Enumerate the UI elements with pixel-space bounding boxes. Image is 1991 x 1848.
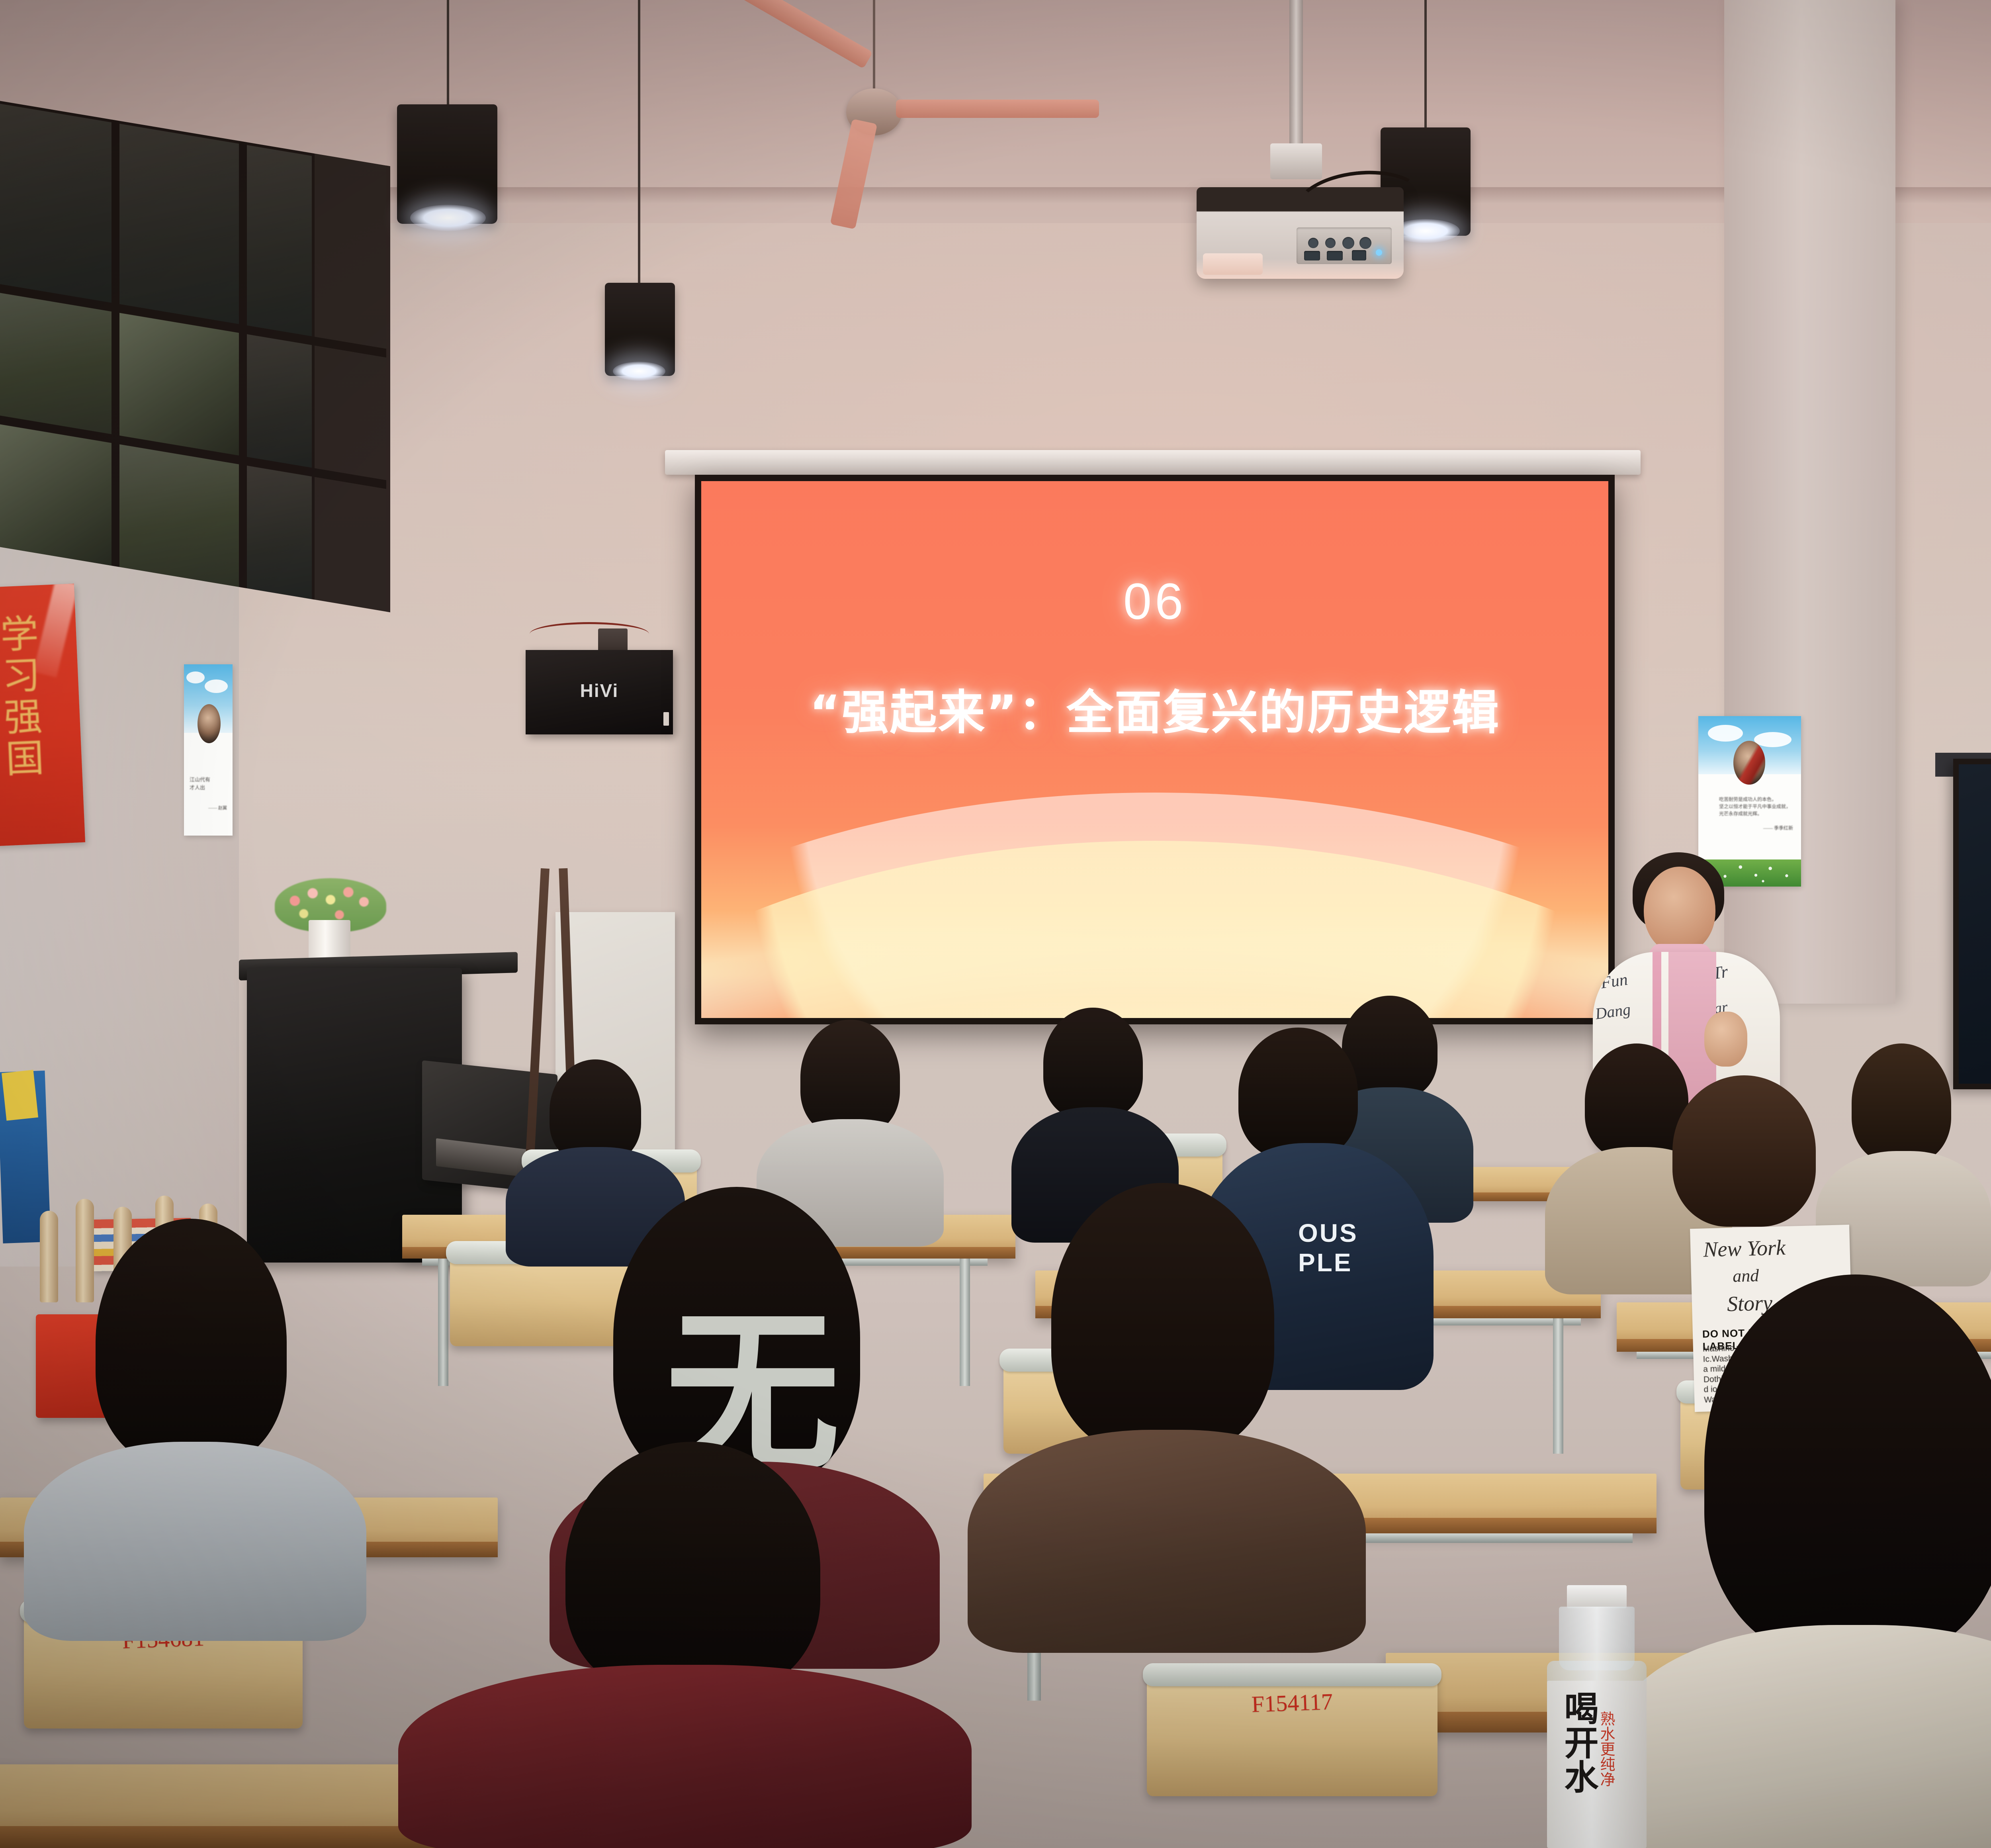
slide-surface: 06 “强起来”：全面复兴的历史逻辑 [701,481,1608,1018]
student-seated [16,1219,374,1637]
desk-leg [438,1259,448,1386]
projection-screen[interactable]: 06 “强起来”：全面复兴的历史逻辑 [695,475,1615,1024]
poster-attrib-left: —— 赵翼 [190,805,227,811]
poster-cloud-icon [186,671,205,683]
student-hair [1704,1274,1991,1657]
student-hair [565,1442,820,1697]
poster-quote-left: 江山代有 才人出 [190,776,227,791]
student-hair [1672,1075,1816,1227]
chair-with-label[interactable]: F154117 [1147,1669,1438,1796]
slide-title: “强起来”：全面复兴的历史逻辑 [701,674,1608,742]
speaker-cabinet: HiVi [526,650,673,734]
poster-cloud-icon [205,679,228,693]
chair-rim [1143,1663,1441,1686]
student-torso [398,1665,972,1848]
projector-led [1376,249,1382,256]
bottle-brand-text: 喝开水 [1561,1691,1595,1793]
poster-attrib-right: —— 季季红新 [1719,824,1793,831]
screen-housing [665,450,1641,475]
student-seated [374,1442,995,1848]
banner-text: 学习强国 [0,613,45,781]
poster-sash [1733,741,1765,785]
desk-leg [1553,1318,1563,1454]
poster-quote-right: 吃苦耐劳是成功人的本色， 坚之以恒才能于平凡中事业成就， 光芒永存成就光辉。 [1719,796,1793,817]
lamp-cord [447,0,449,104]
poster-quote-line: 江山代有 [190,776,227,784]
presenter-head [1644,867,1715,953]
bottle-label: 喝开水 熟水更纯净 [1547,1681,1647,1848]
student-torso [1617,1625,1991,1848]
banner-tassel [33,583,78,677]
yellow-note-card [2,1070,38,1121]
projector-mount-plate [1270,143,1322,179]
student-hair [1238,1028,1358,1159]
red-banner: 学习强国 [0,583,85,846]
lamp-cord [638,0,640,283]
poster-quote-line: 吃苦耐劳是成功人的本色， [1719,796,1793,803]
jacket-print-text: Fun [1600,970,1629,993]
pendant-lamp [599,0,679,406]
fan-blade [896,100,1099,118]
poster-cloud-icon [1754,732,1792,747]
speaker-wire [530,622,649,646]
student-hair [1043,1008,1143,1119]
poster-quote-line: 才人出 [190,784,227,792]
student-torso [968,1430,1366,1653]
projector-mount-rod [1289,0,1303,147]
poster-quote-line: 光芒永存成就光辉。 [1719,810,1793,817]
bottle-sub-text: 熟水更纯净 [1599,1711,1614,1787]
water-bottle[interactable]: 喝开水 熟水更纯净 [1533,1585,1660,1848]
jacket-print-text: Dang [1594,1000,1632,1023]
slide-section-number: 06 [701,572,1608,631]
lamp-glow [613,362,665,381]
student-hair [1051,1183,1274,1454]
fan-rod [873,0,875,92]
student-seated [964,1183,1370,1653]
care-label-handwriting: New York [1703,1235,1786,1262]
lamp-cord [1424,0,1427,127]
lamp-glow [410,205,486,231]
speaker-indicator [663,712,669,726]
student-torso [24,1442,366,1641]
classroom-scene: 学习强国 江山代有 才人出 —— 赵翼 吃苦耐劳是成功人的本色， 坚之以恒才能于… [0,0,1991,1848]
blackboard [1953,759,1991,1089]
speaker-brand-label: HiVi [580,680,619,701]
window-grid [0,100,390,612]
poster-quote-line: 坚之以恒才能于平凡中事业成就， [1719,803,1793,810]
pendant-lamp [392,0,504,239]
wall-poster-left: 江山代有 才人出 —— 赵翼 [184,664,233,836]
student-hair [800,1020,900,1135]
projector-lens [1203,253,1263,275]
poster-portrait [198,704,221,743]
bottle-cap [1567,1585,1627,1608]
poster-cloud-icon [1708,725,1743,742]
student-hair [96,1219,287,1466]
